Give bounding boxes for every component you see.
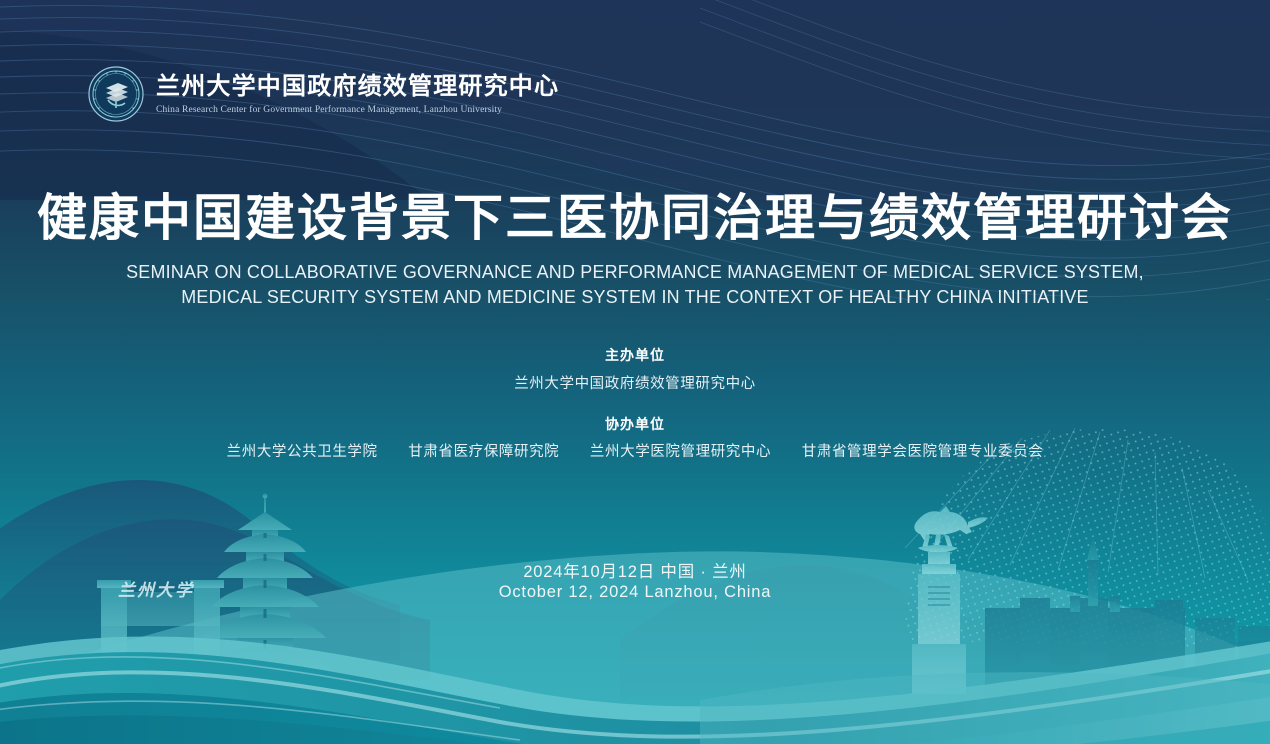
logo-name-cn: 兰州大学中国政府绩效管理研究中心 — [156, 73, 559, 101]
logo-block: 兰州大学中国政府绩效管理研究中心 China Research Center f… — [88, 66, 559, 122]
host-label: 主办单位 — [0, 345, 1270, 365]
logo-text: 兰州大学中国政府绩效管理研究中心 China Research Center f… — [156, 73, 559, 115]
subtitle-line-1: SEMINAR ON COLLABORATIVE GOVERNANCE AND … — [19, 260, 1251, 285]
conference-banner: 兰州大学 — [0, 0, 1270, 744]
co-organizer-item: 甘肃省管理学会医院管理专业委员会 — [802, 440, 1044, 461]
logo-name-en: China Research Center for Government Per… — [156, 105, 559, 115]
subtitle-line-2: MEDICAL SECURITY SYSTEM AND MEDICINE SYS… — [19, 285, 1251, 310]
co-organizer-item: 兰州大学公共卫生学院 — [227, 440, 378, 461]
event-date-cn: 2024年10月12日 中国 · 兰州 — [0, 558, 1270, 582]
co-organizer-item: 兰州大学医院管理研究中心 — [590, 440, 771, 461]
host-value: 兰州大学中国政府绩效管理研究中心 — [0, 372, 1270, 393]
co-organizer-list: 兰州大学公共卫生学院 甘肃省医疗保障研究院 兰州大学医院管理研究中心 甘肃省管理… — [0, 440, 1270, 461]
lanzhou-university-seal-icon — [88, 66, 144, 122]
page-title: 健康中国建设背景下三医协同治理与绩效管理研讨会 — [0, 190, 1270, 248]
co-organizer-label: 协办单位 — [0, 414, 1270, 434]
co-organizer-item: 甘肃省医疗保障研究院 — [408, 440, 559, 461]
event-date-en: October 12, 2024 Lanzhou, China — [0, 583, 1270, 602]
